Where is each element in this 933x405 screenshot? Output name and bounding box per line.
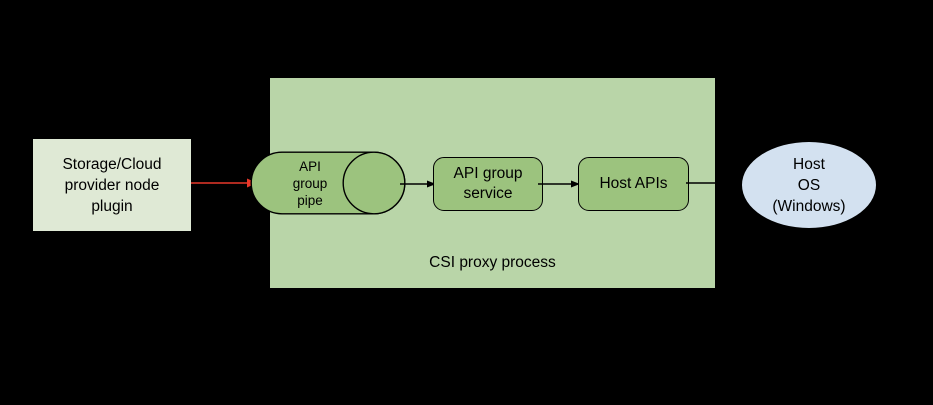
node-host-apis[interactable]: Host APIs [578,157,689,211]
node-host-os[interactable]: Host OS (Windows) [741,141,877,229]
storage-plugin-label: Storage/Cloud provider node plugin [62,154,161,217]
node-storage-cloud-provider-node-plugin[interactable]: Storage/Cloud provider node plugin [32,138,192,232]
diagram-canvas: Storage/Cloud provider node plugin API g… [0,0,933,405]
host-os-label: Host OS (Windows) [772,154,845,217]
edge-api-group-service-to-host-apis [538,174,583,194]
csi-proxy-process-label: CSI proxy process [270,253,715,272]
edge-host-apis-to-host-os [686,177,748,189]
node-api-group-service[interactable]: API group service [433,157,543,211]
api-group-service-label: API group service [454,164,523,204]
node-api-group-pipe[interactable] [250,151,406,215]
host-apis-label: Host APIs [599,174,667,194]
